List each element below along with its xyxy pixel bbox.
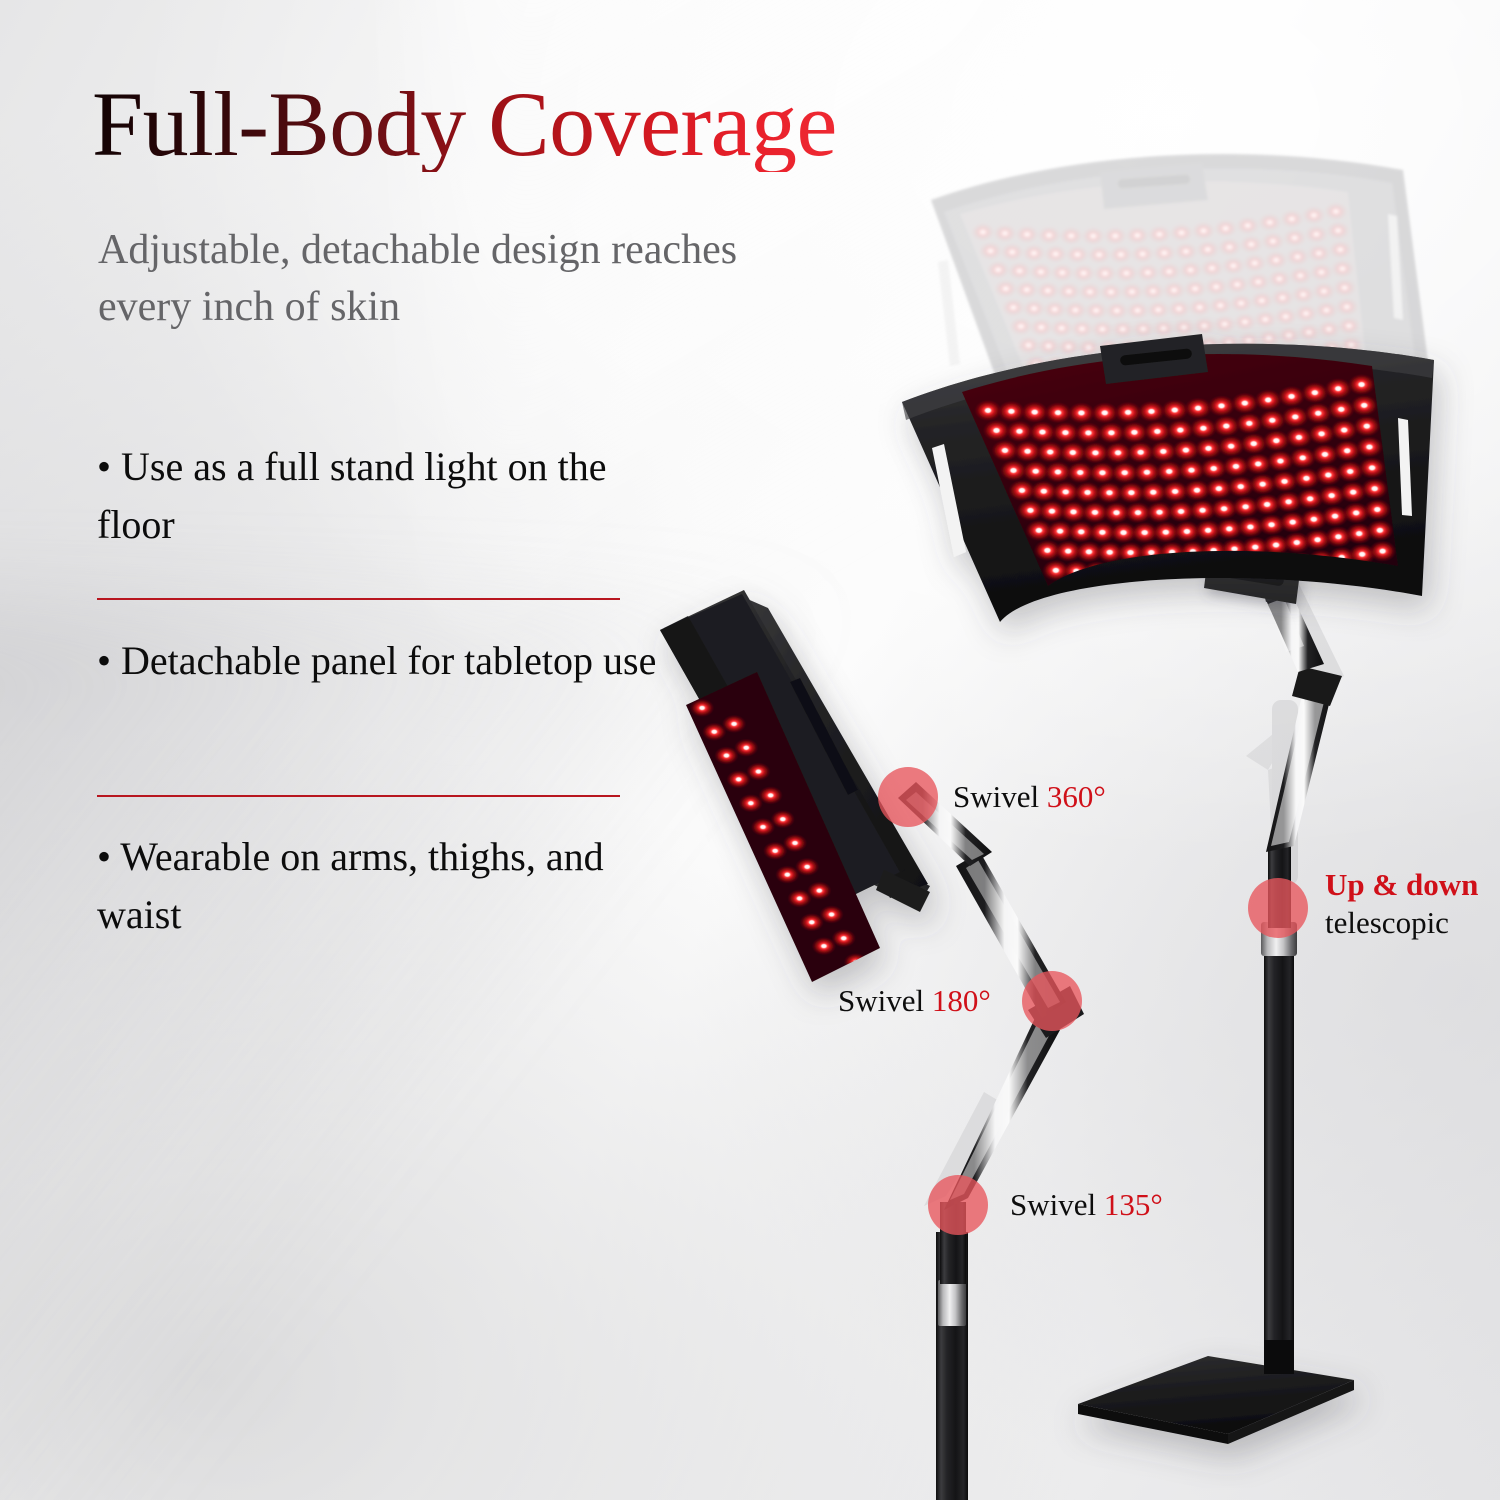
feature-bullet-3: • Wearable on arms, thighs, and waist — [97, 828, 657, 944]
label-swivel-360-value: 360° — [1047, 779, 1106, 814]
stand-base-plate — [1078, 1356, 1354, 1444]
led-grid — [974, 374, 1396, 583]
label-swivel-135: Swivel 135° — [1010, 1186, 1163, 1224]
label-up-down-telescopic: Up & down telescopic — [1325, 866, 1478, 942]
page-subtitle: Adjustable, detachable design reaches ev… — [98, 222, 818, 335]
label-swivel-135-prefix: Swivel — [1010, 1187, 1104, 1222]
feature-divider-2 — [97, 795, 620, 797]
label-swivel-180: Swivel 180° — [838, 982, 991, 1020]
label-up-down-line2: telescopic — [1325, 904, 1478, 942]
label-swivel-135-value: 135° — [1104, 1187, 1163, 1222]
page-title: Full-Body Coverage — [92, 78, 837, 172]
label-swivel-360-prefix: Swivel — [953, 779, 1047, 814]
telescopic-collar-left — [938, 1280, 966, 1326]
feature-bullet-1: • Use as a full stand light on the floor — [97, 438, 657, 554]
feature-divider-1 — [97, 598, 620, 600]
label-up-down-line1: Up & down — [1325, 866, 1478, 904]
marker-swivel-360 — [878, 767, 938, 827]
feature-bullet-2: • Detachable panel for tabletop use — [97, 632, 657, 690]
red-light-therapy-panel — [902, 334, 1434, 622]
marker-up-down — [1248, 878, 1308, 938]
label-swivel-180-prefix: Swivel — [838, 983, 932, 1018]
label-swivel-360: Swivel 360° — [953, 778, 1106, 816]
background-stage: Full-Body Coverage Adjustable, detachabl… — [0, 0, 1500, 1500]
label-swivel-180-value: 180° — [932, 983, 991, 1018]
marker-swivel-135 — [928, 1175, 988, 1235]
marker-swivel-180 — [1022, 971, 1082, 1031]
telescopic-pole-left — [936, 1202, 968, 1500]
